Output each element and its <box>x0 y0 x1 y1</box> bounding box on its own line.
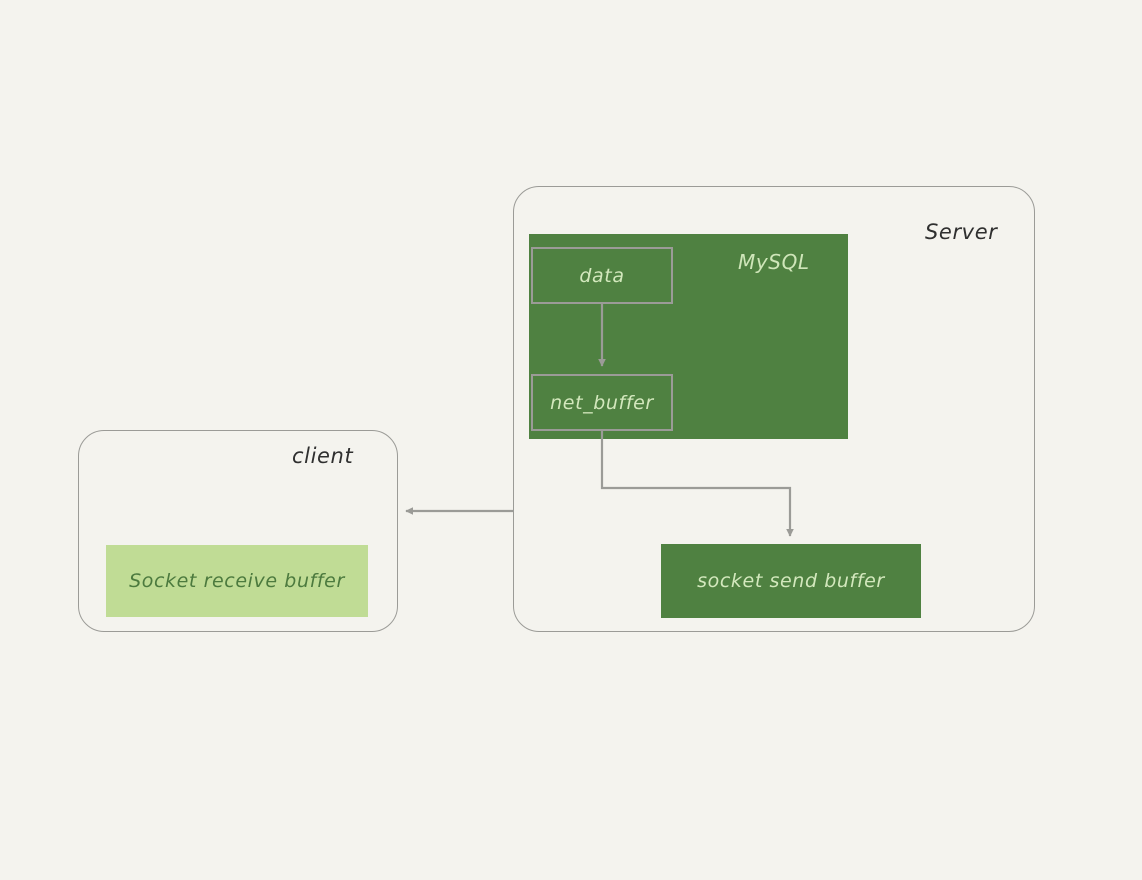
data-box[interactable]: data <box>531 247 673 304</box>
server-label: Server <box>925 220 997 244</box>
net-buffer-box[interactable]: net_buffer <box>531 374 673 431</box>
client-label: client <box>292 444 353 468</box>
socket-send-buffer-box[interactable]: socket send buffer <box>661 544 921 618</box>
diagram-canvas: Server MySQL data net_buffer socket send… <box>0 0 1142 880</box>
mysql-label: MySQL <box>738 250 810 274</box>
socket-receive-buffer-box[interactable]: Socket receive buffer <box>106 545 368 617</box>
